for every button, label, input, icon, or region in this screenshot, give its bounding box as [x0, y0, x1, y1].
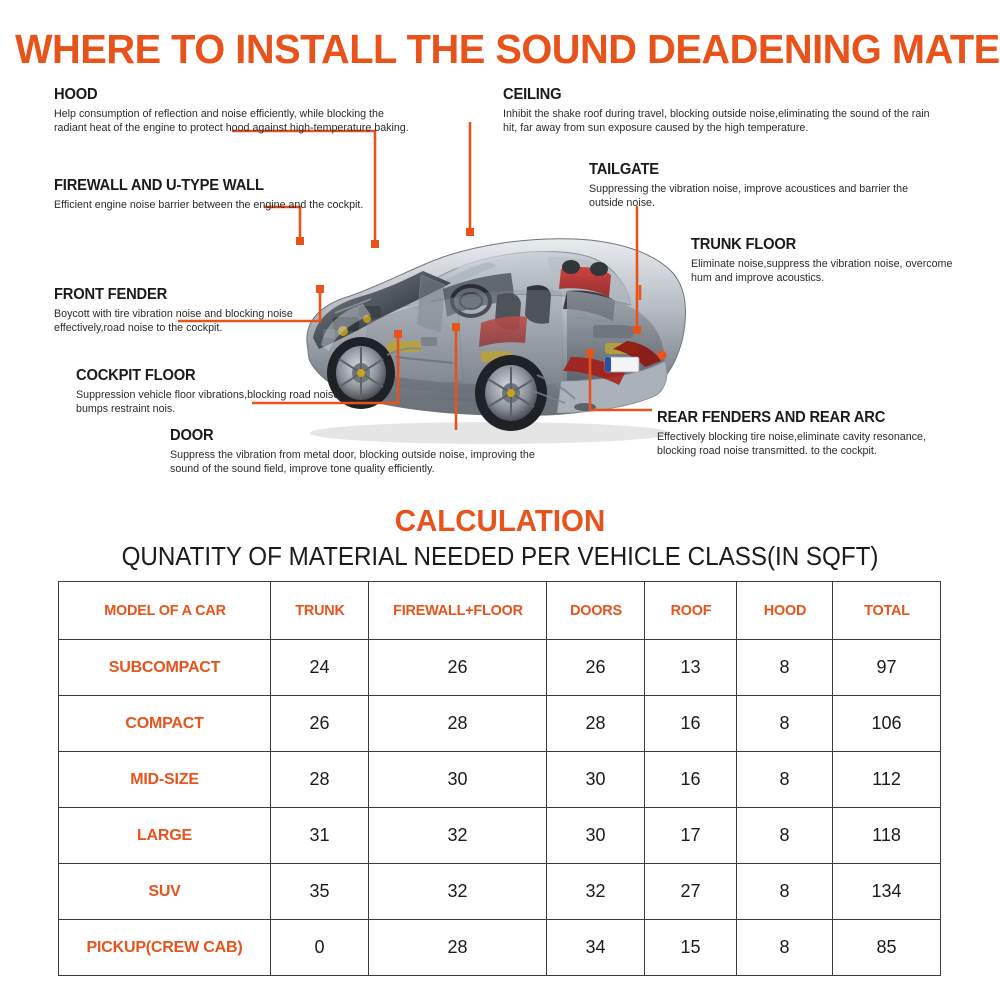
cell-hood: 8 — [737, 864, 833, 920]
callout-tailgate-body: Suppressing the vibration noise, improve… — [589, 182, 939, 211]
callout-front-fender-title: FRONT FENDER — [54, 286, 320, 304]
callout-firewall: FIREWALL AND U-TYPE WALL Efficient engin… — [54, 177, 394, 212]
callout-hood-title: HOOD — [54, 86, 396, 104]
callout-firewall-title: FIREWALL AND U-TYPE WALL — [54, 177, 377, 195]
callout-trunk-floor-body: Eliminate noise,suppress the vibration n… — [691, 257, 961, 286]
table-row: LARGE 31 32 30 17 8 118 — [59, 808, 941, 864]
cell-total: 106 — [833, 696, 941, 752]
cell-model: PICKUP(CREW CAB) — [59, 920, 271, 976]
callout-rear-fenders-title: REAR FENDERS AND REAR ARC — [657, 409, 952, 427]
table-row: MID-SIZE 28 30 30 16 8 112 — [59, 752, 941, 808]
callout-rear-fenders-body: Effectively blocking tire noise,eliminat… — [657, 430, 967, 459]
cell-doors: 32 — [547, 864, 645, 920]
cell-hood: 8 — [737, 752, 833, 808]
callout-ceiling-title: CEILING — [503, 86, 921, 104]
cell-model: MID-SIZE — [59, 752, 271, 808]
table-row: COMPACT 26 28 28 16 8 106 — [59, 696, 941, 752]
cell-trunk: 26 — [271, 696, 369, 752]
cell-total: 85 — [833, 920, 941, 976]
table-row: SUV 35 32 32 27 8 134 — [59, 864, 941, 920]
cell-doors: 26 — [547, 640, 645, 696]
table-row: SUBCOMPACT 24 26 26 13 8 97 — [59, 640, 941, 696]
cell-trunk: 0 — [271, 920, 369, 976]
cell-total: 134 — [833, 864, 941, 920]
cell-trunk: 31 — [271, 808, 369, 864]
table-header-row: MODEL OF A CAR TRUNK FIREWALL+FLOOR DOOR… — [59, 582, 941, 640]
callout-door-title: DOOR — [170, 427, 531, 445]
cell-roof: 16 — [645, 752, 737, 808]
callout-trunk-floor-title: TRUNK FLOOR — [691, 236, 948, 254]
cell-doors: 30 — [547, 752, 645, 808]
cell-firewall-floor: 32 — [369, 864, 547, 920]
cell-trunk: 24 — [271, 640, 369, 696]
infographic-page: WHERE TO INSTALL THE SOUND DEADENING MAT… — [0, 0, 1000, 1000]
cell-doors: 28 — [547, 696, 645, 752]
column-header-doors: DOORS — [548, 582, 642, 640]
callout-front-fender-body: Boycott with tire vibration noise and bl… — [54, 307, 334, 336]
cell-firewall-floor: 28 — [369, 920, 547, 976]
callout-rear-fenders: REAR FENDERS AND REAR ARC Effectively bl… — [657, 409, 967, 458]
column-header-trunk: TRUNK — [272, 582, 366, 640]
callout-ceiling-body: Inhibit the shake roof during travel, bl… — [503, 107, 943, 136]
cell-total: 118 — [833, 808, 941, 864]
callout-door-body: Suppress the vibration from metal door, … — [170, 448, 550, 477]
cell-trunk: 28 — [271, 752, 369, 808]
calculation-heading: CALCULATION — [25, 503, 975, 539]
calculation-subheading: QUNATITY OF MATERIAL NEEDED PER VEHICLE … — [35, 541, 965, 572]
cell-model: COMPACT — [59, 696, 271, 752]
cell-firewall-floor: 32 — [369, 808, 547, 864]
cell-total: 97 — [833, 640, 941, 696]
cell-model: LARGE — [59, 808, 271, 864]
page-title: WHERE TO INSTALL THE SOUND DEADENING MAT… — [15, 26, 985, 73]
callout-cockpit-floor-title: COCKPIT FLOOR — [76, 367, 352, 385]
table-row: PICKUP(CREW CAB) 0 28 34 15 8 85 — [59, 920, 941, 976]
cell-roof: 13 — [645, 640, 737, 696]
callout-firewall-body: Efficient engine noise barrier between t… — [54, 198, 394, 212]
cell-trunk: 35 — [271, 864, 369, 920]
callout-tailgate-title: TAILGATE — [589, 161, 922, 179]
callout-cockpit-floor-body: Suppression vehicle floor vibrations,blo… — [76, 388, 366, 417]
cell-doors: 30 — [547, 808, 645, 864]
car-illustration — [275, 205, 695, 455]
cell-firewall-floor: 28 — [369, 696, 547, 752]
column-header-hood: HOOD — [738, 582, 830, 640]
column-header-model: MODEL OF A CAR — [63, 582, 267, 640]
cell-hood: 8 — [737, 808, 833, 864]
column-header-roof: ROOF — [646, 582, 734, 640]
callout-hood-body: Help consumption of reflection and noise… — [54, 107, 414, 136]
cell-doors: 34 — [547, 920, 645, 976]
material-quantity-table: MODEL OF A CAR TRUNK FIREWALL+FLOOR DOOR… — [58, 581, 941, 976]
column-header-total: TOTAL — [835, 582, 939, 640]
cell-hood: 8 — [737, 640, 833, 696]
cell-model: SUBCOMPACT — [59, 640, 271, 696]
cell-firewall-floor: 30 — [369, 752, 547, 808]
cell-hood: 8 — [737, 696, 833, 752]
cell-roof: 16 — [645, 696, 737, 752]
cell-total: 112 — [833, 752, 941, 808]
callout-cockpit-floor: COCKPIT FLOOR Suppression vehicle floor … — [76, 367, 366, 416]
callout-hood: HOOD Help consumption of reflection and … — [54, 86, 414, 135]
callout-front-fender: FRONT FENDER Boycott with tire vibration… — [54, 286, 334, 335]
cell-hood: 8 — [737, 920, 833, 976]
cell-roof: 27 — [645, 864, 737, 920]
cell-firewall-floor: 26 — [369, 640, 547, 696]
callout-door: DOOR Suppress the vibration from metal d… — [170, 427, 550, 476]
callout-trunk-floor: TRUNK FLOOR Eliminate noise,suppress the… — [691, 236, 961, 285]
column-header-firewall-floor: FIREWALL+FLOOR — [372, 582, 543, 640]
callout-tailgate: TAILGATE Suppressing the vibration noise… — [589, 161, 939, 210]
cutaway-car-svg — [275, 205, 695, 455]
cell-roof: 15 — [645, 920, 737, 976]
callout-ceiling: CEILING Inhibit the shake roof during tr… — [503, 86, 943, 135]
cell-model: SUV — [59, 864, 271, 920]
cell-roof: 17 — [645, 808, 737, 864]
